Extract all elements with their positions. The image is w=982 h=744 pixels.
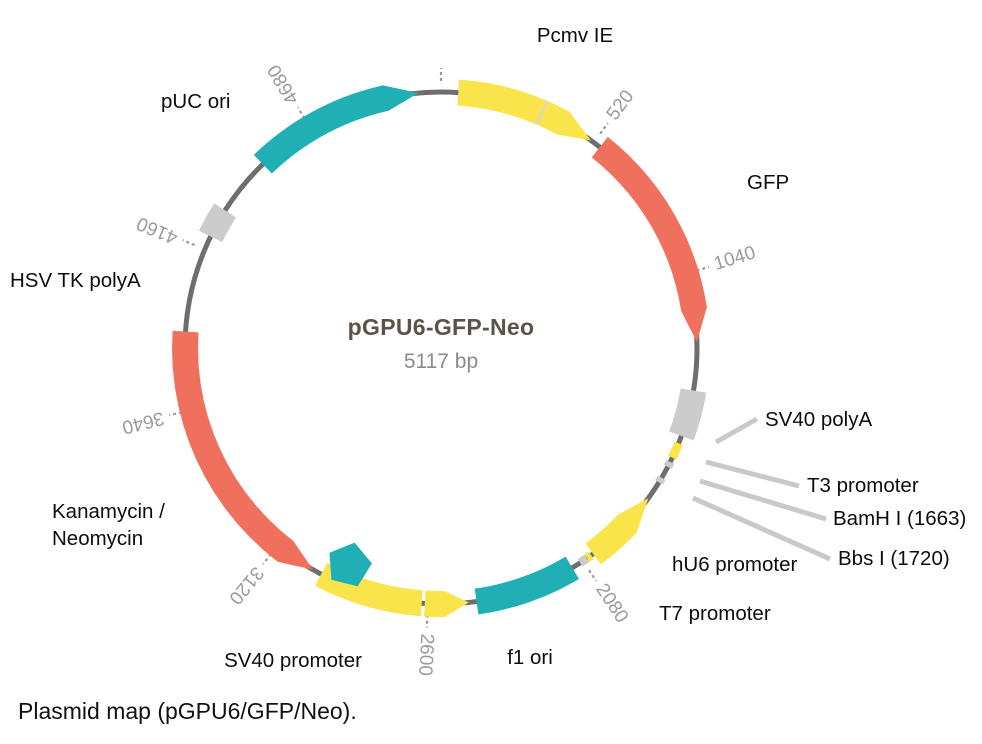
plasmid-map-svg: 5201040208026003120364041604680 Pcmv IEG… — [0, 0, 982, 690]
tick-label-2600: 2600 — [414, 633, 437, 676]
feature-sv40-polya[interactable] — [669, 388, 706, 440]
feature-label-sv40-promoter: SV40 promoter — [224, 649, 362, 672]
figure-caption: Plasmid map (pGPU6/GFP/Neo). — [18, 698, 357, 725]
feature-label-f1-ori: f1 ori — [507, 646, 553, 669]
plasmid-name-title: pGPU6-GFP-Neo — [348, 314, 535, 340]
feature-kanamycin-neomycin[interactable] — [172, 331, 313, 570]
feature-label-hu6-promoter: hU6 promoter — [672, 553, 798, 576]
feature-hu6-promoter[interactable] — [585, 498, 648, 564]
leader-line — [716, 419, 757, 442]
feature-label-kanamycin-neomycin: Kanamycin /Neomycin — [52, 500, 165, 550]
plasmid-map-figure: 5201040208026003120364041604680 Pcmv IEG… — [0, 0, 982, 744]
leader-line — [693, 498, 830, 559]
tick-mark-4680: 4680 — [264, 61, 305, 119]
feature-puc-ori[interactable] — [254, 85, 419, 173]
feature-sv40-promoter-cap[interactable] — [424, 591, 469, 617]
feature-label-t7-promoter: T7 promoter — [659, 602, 771, 625]
tick-label-2080: 2080 — [591, 580, 632, 627]
feature-label-bamh-i-1663: BamH I (1663) — [833, 507, 966, 530]
feature-f1-ori[interactable] — [475, 557, 579, 615]
feature-label-bbs-i-1720: Bbs I (1720) — [838, 547, 950, 570]
feature-hsv-tk-polya[interactable] — [199, 203, 236, 242]
plasmid-size-label: 5117 bp — [404, 350, 478, 373]
feature-pcmv-ie[interactable] — [457, 80, 591, 141]
tick-mark-1040: 1040 — [697, 242, 759, 274]
feature-label-hsv-tk-polya: HSV TK polyA — [10, 269, 141, 292]
feature-gfp[interactable] — [592, 137, 707, 342]
feature-label-layer: Pcmv IEGFPSV40 polyAT3 promoterBamH I (1… — [10, 24, 966, 672]
feature-label-t3-promoter: T3 promoter — [807, 474, 919, 497]
feature-layer — [172, 80, 707, 617]
tick-mark-3640: 3640 — [120, 407, 182, 438]
tick-mark-3120: 3120 — [224, 554, 271, 608]
tick-mark-2080: 2080 — [589, 570, 632, 627]
tick-label-520: 520 — [603, 86, 639, 124]
tick-label-1040: 1040 — [712, 242, 759, 274]
feature-label-pcmv-ie: Pcmv IE — [537, 24, 613, 47]
leader-line — [706, 462, 799, 486]
tick-mark-2600: 2600 — [414, 615, 437, 677]
feature-label-puc-ori: pUC ori — [161, 90, 231, 113]
tick-mark-520: 520 — [600, 86, 638, 133]
tick-mark-4160: 4160 — [134, 212, 195, 248]
feature-label-sv40-polya: SV40 polyA — [765, 408, 872, 431]
tick-label-3120: 3120 — [224, 562, 267, 608]
tick-label-4160: 4160 — [134, 212, 181, 248]
tick-label-3640: 3640 — [120, 407, 166, 438]
feature-label-gfp: GFP — [747, 171, 789, 194]
tick-label-4680: 4680 — [264, 61, 304, 108]
